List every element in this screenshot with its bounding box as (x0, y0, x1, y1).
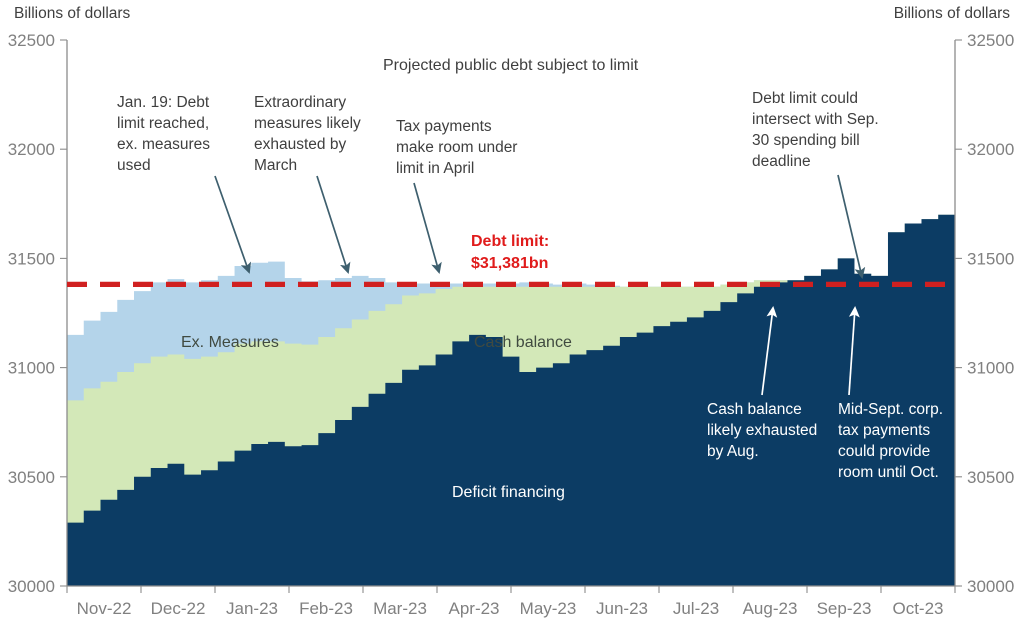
annotation-taxapril-arrow (414, 183, 439, 272)
y-axis-label-left-32500: 32500 (8, 31, 55, 50)
annotation-ex-measures-exhausted: Extraordinary measures likely exhausted … (254, 94, 361, 272)
annotation-jan19-line-1: limit reached, (117, 115, 209, 132)
annotation-exmeasures-line-0: Extraordinary (254, 94, 346, 111)
annotation-midsept-line-3: room until Oct. (838, 464, 939, 481)
annotation-cashaug-line-2: by Aug. (707, 443, 759, 460)
annotation-midsept-line-0: Mid-Sept. corp. (838, 401, 943, 418)
y-axis-label-right-30000: 30000 (967, 577, 1014, 596)
x-axis-label-Aug-23: Aug-23 (743, 599, 798, 618)
annotation-taxapril-line-1: make room under (396, 139, 517, 156)
band-label-ex-measures: Ex. Measures (181, 334, 279, 351)
y-axis-label-right-31500: 31500 (967, 249, 1014, 268)
y-axis-label-right-31000: 31000 (967, 359, 1014, 378)
band-label-cash-balance: Cash balance (474, 334, 572, 351)
y-axis-label-left-31500: 31500 (8, 249, 55, 268)
y-axis-label-right-32000: 32000 (967, 140, 1014, 159)
x-axis-label-Jun-23: Jun-23 (596, 599, 648, 618)
annotation-jan19-line-3: used (117, 157, 151, 174)
y-axis-labels-right: 325003200031500310003050030000 (967, 31, 1014, 596)
annotation-sep30-line-1: intersect with Sep. (752, 111, 879, 128)
annotation-jan19-line-2: ex. measures (117, 136, 210, 153)
y-axis-labels-left: 325003200031500310003050030000 (8, 31, 55, 596)
annotation-jan19-line-0: Jan. 19: Debt (117, 94, 210, 111)
annotation-cashaug-line-0: Cash balance (707, 401, 802, 418)
right-unit-label: Billions of dollars (894, 5, 1011, 22)
x-axis-label-Jul-23: Jul-23 (673, 599, 719, 618)
debt-limit-callout-line1: Debt limit: (471, 233, 549, 250)
annotation-sep30-deadline: Debt limit could intersect with Sep. 30 … (752, 90, 879, 277)
annotation-taxapril-line-2: limit in April (396, 160, 474, 177)
annotation-exmeasures-line-3: March (254, 157, 297, 174)
annotation-cashaug-line-1: likely exhausted (707, 422, 817, 439)
debt-limit-callout-line2: $31,381bn (471, 255, 548, 272)
annotation-midsept-line-2: could provide (838, 443, 930, 460)
chart-canvas: Billions of dollars Billions of dollars … (0, 0, 1024, 628)
annotation-sep30-line-3: deadline (752, 153, 811, 170)
x-axis-label-Nov-22: Nov-22 (77, 599, 132, 618)
y-axis-label-left-32000: 32000 (8, 140, 55, 159)
annotation-exmeasures-line-1: measures likely (254, 115, 361, 132)
x-axis-label-Sep-23: Sep-23 (817, 599, 872, 618)
annotation-sep30-line-2: 30 spending bill (752, 132, 860, 149)
annotation-exmeasures-arrow (317, 176, 348, 272)
annotation-exmeasures-line-2: exhausted by (254, 136, 346, 153)
annotation-midsept-line-1: tax payments (838, 422, 930, 439)
annotation-taxapril-line-0: Tax payments (396, 118, 492, 135)
band-label-deficit-financing: Deficit financing (452, 484, 565, 501)
left-unit-label: Billions of dollars (14, 5, 131, 22)
y-axis-label-right-32500: 32500 (967, 31, 1014, 50)
x-axis-label-Jan-23: Jan-23 (226, 599, 278, 618)
debt-limit-area-chart: Billions of dollars Billions of dollars … (0, 0, 1024, 628)
x-axis-label-Oct-23: Oct-23 (892, 599, 943, 618)
y-axis-label-left-30500: 30500 (8, 468, 55, 487)
debt-limit-callout: Debt limit: $31,381bn (471, 233, 549, 272)
annotation-jan19: Jan. 19: Debt limit reached, ex. measure… (117, 94, 249, 272)
x-axis-label-Dec-22: Dec-22 (151, 599, 206, 618)
y-axis-label-left-31000: 31000 (8, 359, 55, 378)
x-axis-label-Apr-23: Apr-23 (448, 599, 499, 618)
x-axis-label-Feb-23: Feb-23 (299, 599, 353, 618)
y-axis-label-right-30500: 30500 (967, 468, 1014, 487)
x-axis-labels: Nov-22Dec-22Jan-23Feb-23Mar-23Apr-23May-… (77, 599, 944, 618)
y-axis-label-left-30000: 30000 (8, 577, 55, 596)
x-axis-label-Mar-23: Mar-23 (373, 599, 427, 618)
series-title: Projected public debt subject to limit (383, 57, 639, 74)
x-axis-label-May-23: May-23 (520, 599, 577, 618)
annotation-sep30-line-0: Debt limit could (752, 90, 858, 107)
annotation-jan19-arrow (215, 176, 249, 272)
